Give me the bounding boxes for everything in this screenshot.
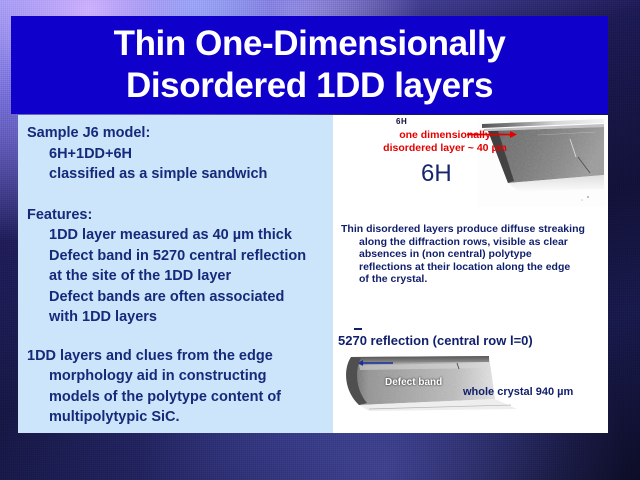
label-6h-main: 6H bbox=[421, 160, 452, 188]
paragraph-line-3: absences in (non central) polytype bbox=[341, 248, 603, 261]
title-line-2: Disordered 1DD layers bbox=[126, 65, 493, 107]
defect-band-label: Defect band bbox=[385, 377, 442, 388]
features-line-3: at the site of the 1DD layer bbox=[27, 266, 327, 287]
reflection-overbar-digit: 2 bbox=[345, 333, 352, 348]
paragraph-line-4: reflections at their location along the … bbox=[341, 261, 603, 274]
spacer-1 bbox=[27, 185, 327, 205]
closing-line-2: morphology aid in constructing bbox=[27, 366, 327, 387]
defect-band-pointer-arrow-icon bbox=[358, 359, 394, 367]
reflection-caption: 5270 reflection (central row l=0) bbox=[338, 333, 533, 348]
closing-line-4: multipolytypic SiC. bbox=[27, 407, 327, 428]
features-line-2: Defect band in 5270 central reflection bbox=[27, 246, 327, 267]
features-line-5: with 1DD layers bbox=[27, 307, 327, 328]
paragraph-line-2: along the diffraction rows, visible as c… bbox=[341, 236, 603, 249]
features-heading: Features: bbox=[27, 205, 327, 226]
closing-line-3: models of the polytype content of bbox=[27, 387, 327, 408]
overbar-mark bbox=[354, 328, 362, 330]
right-figure-panel: 6H one dimensionally disordered layer ~ … bbox=[333, 115, 608, 433]
sample-model-line-1: 6H+1DD+6H bbox=[27, 144, 327, 165]
red-note-line-1: one dimensionally bbox=[355, 129, 535, 142]
closing-line-1: 1DD layers and clues from the edge bbox=[27, 346, 327, 367]
disordered-layer-annotation: one dimensionally disordered layer ~ 40 … bbox=[355, 129, 535, 154]
diffuse-streaking-paragraph: Thin disordered layers produce diffuse s… bbox=[341, 223, 603, 286]
reflection-overbar-digit-wrap: 2 bbox=[345, 333, 352, 348]
features-line-1: 1DD layer measured as 40 µm thick bbox=[27, 225, 327, 246]
slide-title-bar: Thin One-Dimensionally Disordered 1DD la… bbox=[11, 16, 608, 114]
spacer-2 bbox=[27, 328, 327, 346]
whole-crystal-caption: whole crystal 940 µm bbox=[463, 386, 573, 398]
features-line-4: Defect bands are often associated bbox=[27, 287, 327, 308]
sample-model-heading: Sample J6 model: bbox=[27, 123, 327, 144]
red-note-line-2: disordered layer ~ 40 µm bbox=[355, 142, 535, 155]
label-6h-top: 6H bbox=[396, 117, 407, 126]
left-content-panel: Sample J6 model: 6H+1DD+6H classified as… bbox=[18, 115, 333, 433]
paragraph-line-5: of the crystal. bbox=[341, 273, 603, 286]
sample-model-line-2: classified as a simple sandwich bbox=[27, 164, 327, 185]
reflection-suffix: 70 reflection (central row l=0) bbox=[352, 333, 532, 348]
paragraph-line-1: Thin disordered layers produce diffuse s… bbox=[341, 223, 603, 236]
title-line-1: Thin One-Dimensionally bbox=[114, 23, 506, 65]
